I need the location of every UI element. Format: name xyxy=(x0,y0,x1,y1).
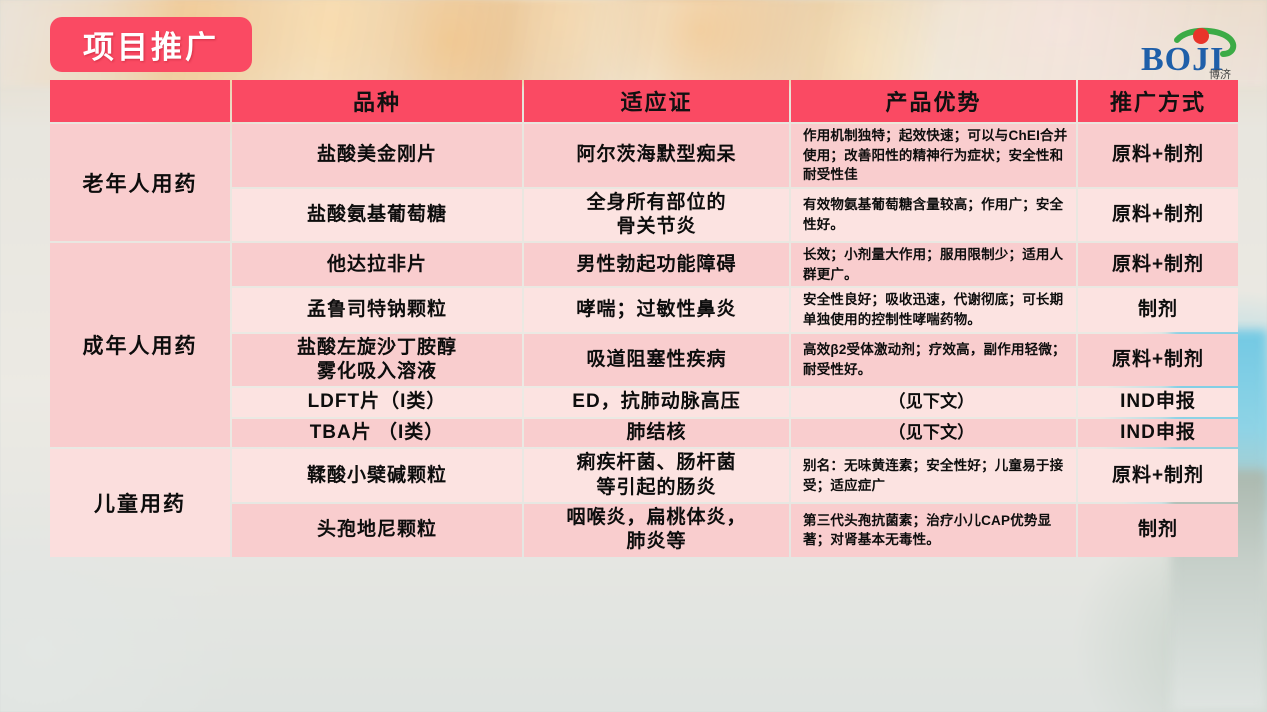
cell-promotion: 原料+制剂 xyxy=(1078,124,1238,187)
cell-advantage: （见下文） xyxy=(791,419,1076,448)
cell-advantage: 别名：无味黄连素；安全性好；儿童易于接受；适应症广 xyxy=(791,449,1076,502)
cell-indication: 哮喘；过敏性鼻炎 xyxy=(524,288,789,331)
boji-logo: BOJI 博济 xyxy=(1125,24,1257,80)
promotion-table: 品种 适应证 产品优势 推广方式 老年人用药盐酸美金刚片阿尔茨海默型痴呆作用机制… xyxy=(48,78,1240,559)
cell-advantage: （见下文） xyxy=(791,388,1076,417)
table-body: 老年人用药盐酸美金刚片阿尔茨海默型痴呆作用机制独特；起效快速；可以与ChEI合并… xyxy=(50,124,1238,557)
cell-indication: 肺结核 xyxy=(524,419,789,448)
cell-variety: 盐酸美金刚片 xyxy=(232,124,522,187)
table-header-row: 品种 适应证 产品优势 推广方式 xyxy=(50,80,1238,122)
slide-root: 项目推广 BOJI 博济 品种 适应证 产品优势 推广方式 老年人用药盐酸美金刚… xyxy=(0,0,1267,712)
row-group-label: 成年人用药 xyxy=(50,243,230,447)
cell-variety: 盐酸氨基葡萄糖 xyxy=(232,189,522,242)
row-group-label: 儿童用药 xyxy=(50,449,230,556)
cell-indication: 吸道阻塞性疾病 xyxy=(524,334,789,387)
cell-indication: ED，抗肺动脉高压 xyxy=(524,388,789,417)
cell-variety: 他达拉非片 xyxy=(232,243,522,286)
column-header-indication: 适应证 xyxy=(524,80,789,122)
cell-promotion: 原料+制剂 xyxy=(1078,449,1238,502)
cell-advantage: 作用机制独特；起效快速；可以与ChEI合并使用；改善阳性的精神行为症状；安全性和… xyxy=(791,124,1076,187)
cell-indication: 痢疾杆菌、肠杆菌 等引起的肠炎 xyxy=(524,449,789,502)
cell-advantage: 第三代头孢抗菌素；治疗小儿CAP优势显著；对肾基本无毒性。 xyxy=(791,504,1076,557)
column-header-advantage: 产品优势 xyxy=(791,80,1076,122)
svg-text:博济: 博济 xyxy=(1209,67,1231,80)
cell-variety: 孟鲁司特钠颗粒 xyxy=(232,288,522,331)
cell-advantage: 安全性良好；吸收迅速，代谢彻底；可长期单独使用的控制性哮喘药物。 xyxy=(791,288,1076,331)
table-row: 老年人用药盐酸美金刚片阿尔茨海默型痴呆作用机制独特；起效快速；可以与ChEI合并… xyxy=(50,124,1238,187)
column-header-promotion: 推广方式 xyxy=(1078,80,1238,122)
cell-promotion: 原料+制剂 xyxy=(1078,334,1238,387)
cell-promotion: 原料+制剂 xyxy=(1078,189,1238,242)
cell-indication: 阿尔茨海默型痴呆 xyxy=(524,124,789,187)
column-header-group xyxy=(50,80,230,122)
cell-variety: LDFT片（I类） xyxy=(232,388,522,417)
cell-advantage: 高效β2受体激动剂；疗效高，副作用轻微；耐受性好。 xyxy=(791,334,1076,387)
cell-promotion: 制剂 xyxy=(1078,288,1238,331)
column-header-variety: 品种 xyxy=(232,80,522,122)
cell-promotion: 原料+制剂 xyxy=(1078,243,1238,286)
cell-advantage: 有效物氨基葡萄糖含量较高；作用广；安全性好。 xyxy=(791,189,1076,242)
page-title-label: 项目推广 xyxy=(83,22,219,67)
table-row: 儿童用药鞣酸小檗碱颗粒痢疾杆菌、肠杆菌 等引起的肠炎别名：无味黄连素；安全性好；… xyxy=(50,449,1238,502)
cell-promotion: IND申报 xyxy=(1078,419,1238,448)
cell-promotion: 制剂 xyxy=(1078,504,1238,557)
cell-indication: 咽喉炎，扁桃体炎， 肺炎等 xyxy=(524,504,789,557)
cell-promotion: IND申报 xyxy=(1078,388,1238,417)
cell-indication: 男性勃起功能障碍 xyxy=(524,243,789,286)
page-title: 项目推广 xyxy=(50,17,252,72)
cell-variety: 盐酸左旋沙丁胺醇 雾化吸入溶液 xyxy=(232,334,522,387)
cell-variety: 头孢地尼颗粒 xyxy=(232,504,522,557)
table-header: 品种 适应证 产品优势 推广方式 xyxy=(50,80,1238,122)
cell-variety: TBA片 （I类） xyxy=(232,419,522,448)
row-group-label: 老年人用药 xyxy=(50,124,230,241)
table-row: 成年人用药他达拉非片男性勃起功能障碍长效；小剂量大作用；服用限制少；适用人群更广… xyxy=(50,243,1238,286)
cell-variety: 鞣酸小檗碱颗粒 xyxy=(232,449,522,502)
boji-logo-icon: BOJI 博济 xyxy=(1125,24,1257,80)
cell-advantage: 长效；小剂量大作用；服用限制少；适用人群更广。 xyxy=(791,243,1076,286)
cell-indication: 全身所有部位的 骨关节炎 xyxy=(524,189,789,242)
